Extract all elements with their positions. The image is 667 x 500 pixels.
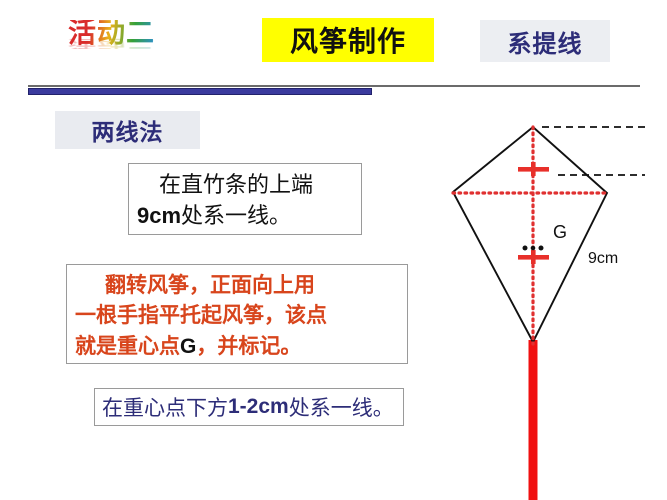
- tie-mark-gravity: [518, 250, 549, 264]
- step2-line2: 一根手指平托起风筝，该点: [75, 300, 401, 330]
- header-accent-bar: [28, 88, 372, 95]
- step3-text-b: 处系一线。: [289, 392, 394, 422]
- measure-label-9cm: 9cm: [588, 250, 618, 268]
- step2-textbox: 翻转风筝，正面向上用 一根手指平托起风筝，该点 就是重心点G，并标记。: [66, 264, 408, 364]
- section-title-chip: 系提线: [480, 20, 610, 62]
- step2-gravity-point: G: [180, 335, 196, 358]
- section-title-text: 系提线: [508, 24, 583, 59]
- slide-canvas: 活动二 活动二 风筝制作 系提线 两线法 在直竹条的上端 9cm处系一线。 翻转…: [0, 0, 667, 500]
- step1-line2: 9cm处系一线。: [137, 200, 353, 231]
- gravity-point-label: G: [553, 222, 567, 243]
- topic-title-chip: 风筝制作: [262, 18, 434, 62]
- kite-diagram-svg: [420, 108, 667, 500]
- tie-mark-upper: [518, 162, 549, 176]
- step2-line3: 就是重心点G，并标记。: [75, 331, 401, 362]
- step3-measure: 1-2cm: [228, 395, 289, 419]
- activity-title: 活动二 活动二: [68, 20, 208, 66]
- step3-textbox: 在重心点下方1-2cm处系一线。: [94, 388, 404, 426]
- subsection-label-text: 两线法: [92, 113, 164, 147]
- step1-line1: 在直竹条的上端: [137, 169, 353, 200]
- step2-line3-b: ，并标记。: [196, 334, 301, 358]
- subsection-label: 两线法: [55, 111, 200, 149]
- step1-line2-rest: 处系一线。: [181, 203, 291, 228]
- topic-title-text: 风筝制作: [290, 20, 406, 60]
- step3-text-a: 在重心点下方: [102, 392, 228, 422]
- step2-line1: 翻转风筝，正面向上用: [75, 270, 401, 300]
- kite-diagram: 9cm G: [420, 108, 667, 500]
- kite-outline: [453, 127, 607, 342]
- gravity-point-dots: [523, 246, 544, 251]
- header-divider-line: [28, 85, 640, 87]
- step2-line3-a: 就是重心点: [75, 334, 180, 358]
- activity-title-reflection: 活动二: [68, 37, 208, 49]
- step1-measure: 9cm: [137, 203, 181, 228]
- step1-textbox: 在直竹条的上端 9cm处系一线。: [128, 163, 362, 235]
